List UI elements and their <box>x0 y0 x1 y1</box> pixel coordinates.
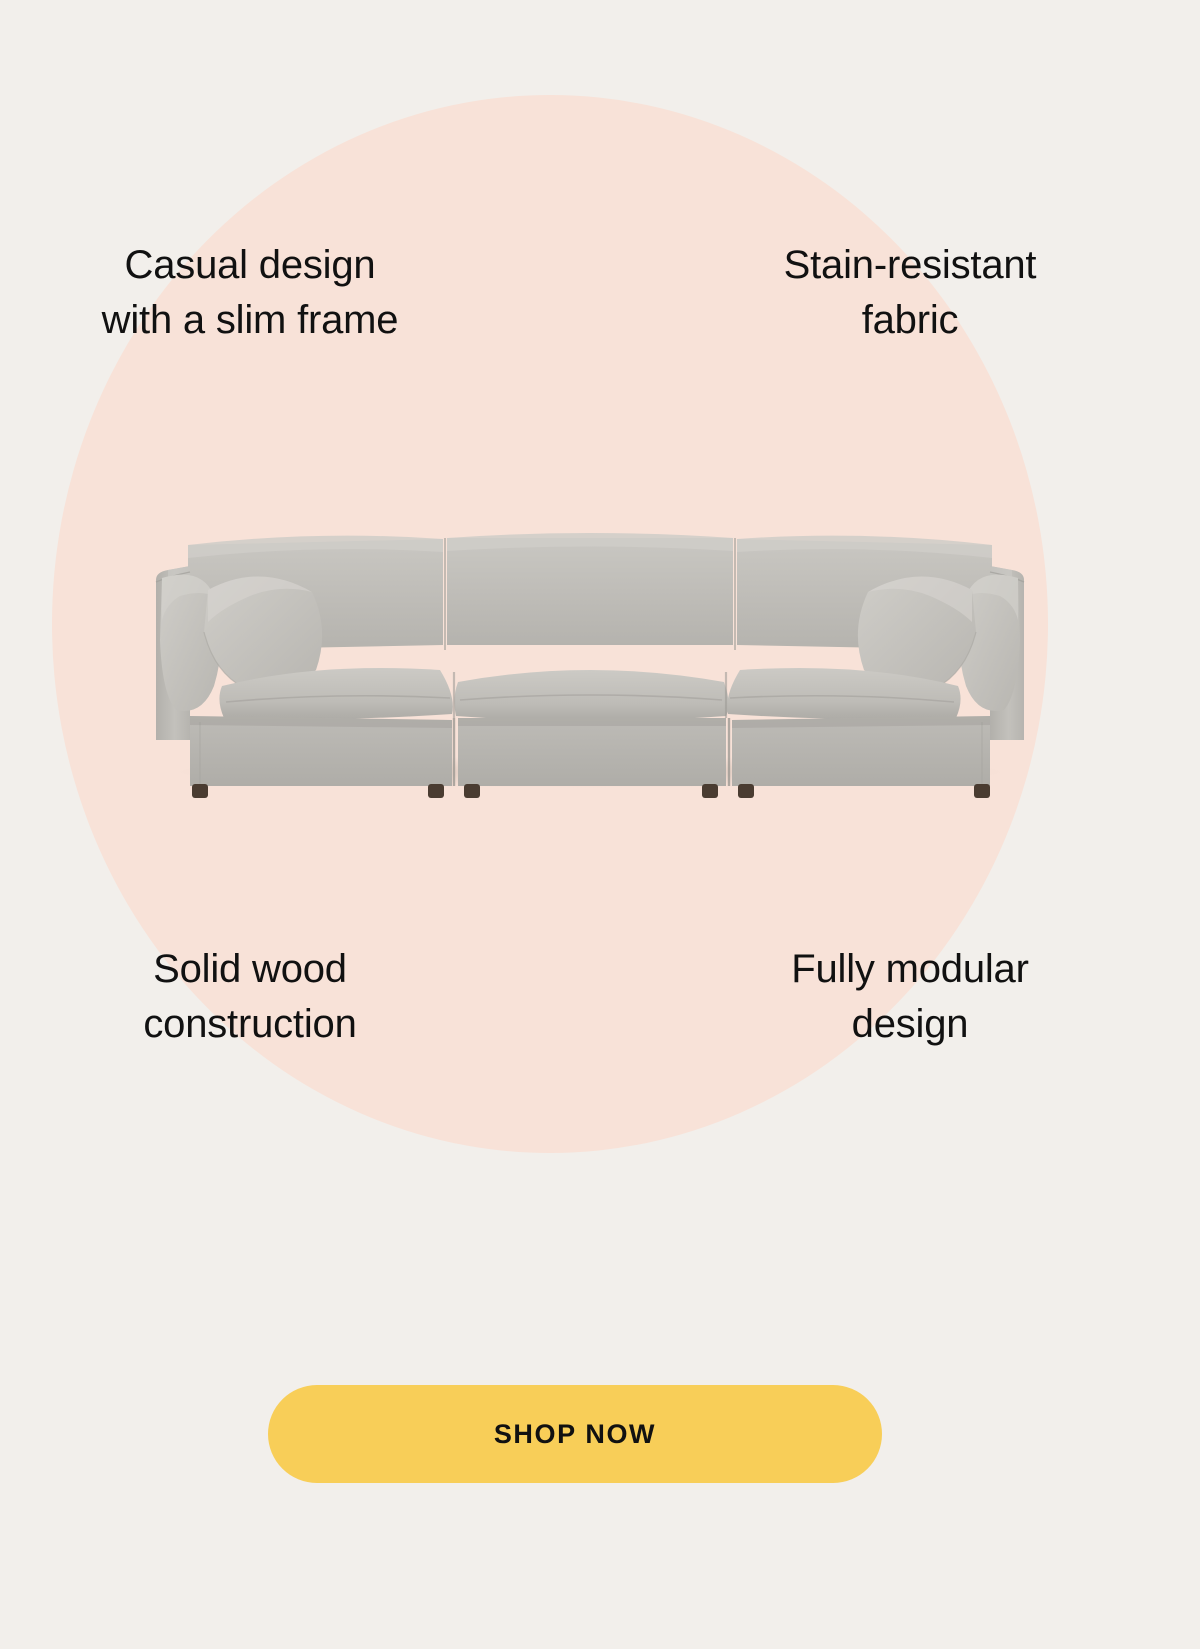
feature-label-fully-modular: Fully modular design <box>700 942 1120 1052</box>
sofa-leg <box>702 784 718 798</box>
sofa-illustration <box>140 500 1040 800</box>
sofa-leg <box>974 784 990 798</box>
feature-label-stain-resistant: Stain-resistant fabric <box>700 238 1120 348</box>
sofa-leg <box>464 784 480 798</box>
sofa-leg <box>192 784 208 798</box>
feature-label-solid-wood: Solid wood construction <box>40 942 460 1052</box>
sofa-leg <box>428 784 444 798</box>
promo-stage: Casual design with a slim frame Stain-re… <box>0 0 1200 1649</box>
shop-now-button[interactable]: SHOP NOW <box>268 1385 882 1483</box>
feature-label-casual-design: Casual design with a slim frame <box>40 238 460 348</box>
product-image-modular-sofa <box>140 500 1040 800</box>
sofa-leg <box>738 784 754 798</box>
shop-now-label: SHOP NOW <box>494 1419 656 1450</box>
